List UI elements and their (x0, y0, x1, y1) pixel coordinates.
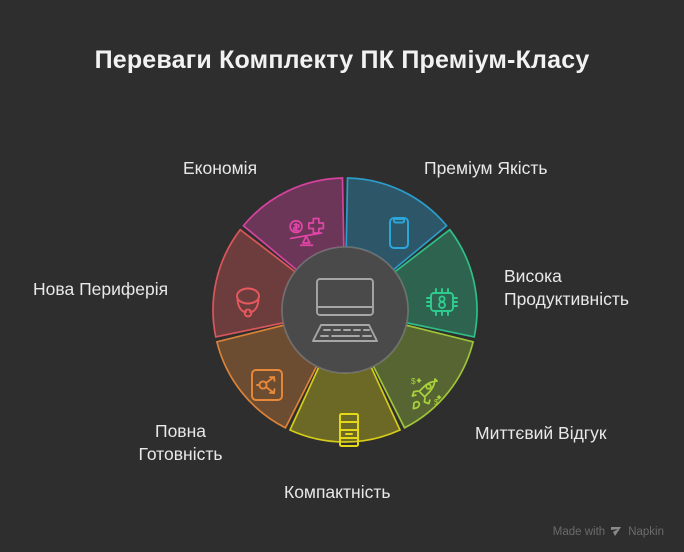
label-instant-response: Миттєвий Відгук (475, 422, 607, 445)
label-economy: Економія (183, 157, 257, 180)
page-title: Переваги Комплекту ПК Преміум-Класу (0, 46, 684, 75)
infographic-page: Переваги Комплекту ПК Преміум-Класу (0, 0, 684, 552)
label-full-readiness: Повна Готовність (118, 420, 243, 466)
wheel-svg (205, 170, 485, 450)
watermark-brand: Napkin (628, 526, 664, 538)
watermark-prefix: Made with (553, 526, 605, 538)
label-new-peripherals: Нова Периферія (33, 278, 168, 301)
label-compactness: Компактність (284, 481, 390, 504)
label-high-performance: Висока Продуктивність (504, 265, 629, 311)
benefits-wheel: $ $ (205, 170, 485, 450)
napkin-logo-icon (610, 525, 623, 538)
watermark: Made with Napkin (553, 525, 664, 538)
label-premium-quality: Преміум Якість (424, 157, 547, 180)
wheel-hub-circle (282, 247, 408, 373)
